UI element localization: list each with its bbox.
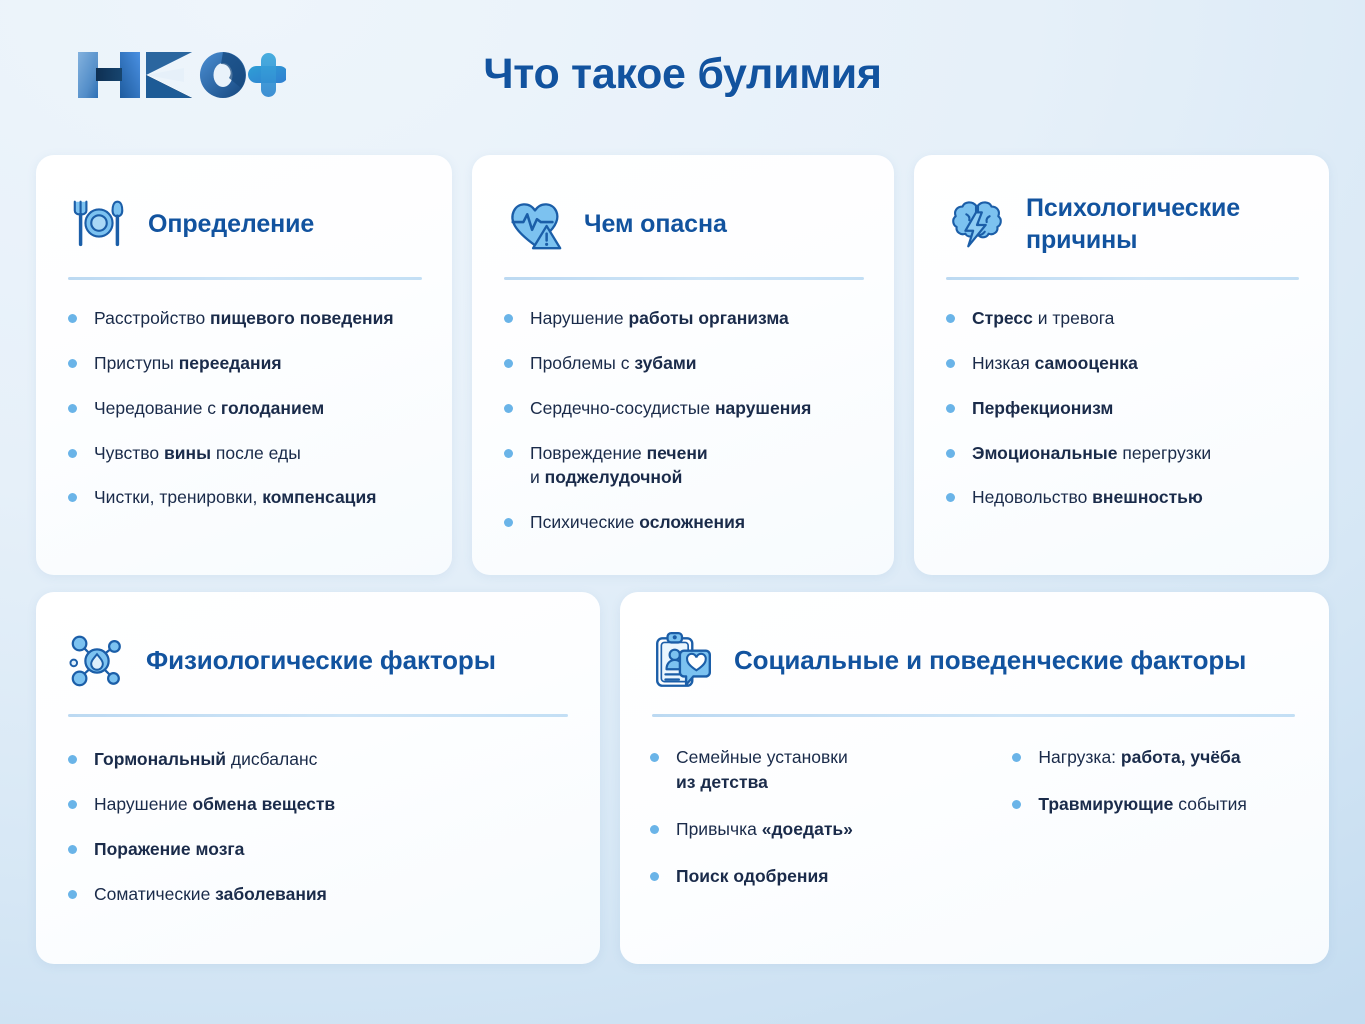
- list-item: Чередование с голоданием: [68, 396, 426, 421]
- list-item: Низкая самооценка: [946, 351, 1303, 376]
- list-item: Чувство вины после еды: [68, 441, 426, 466]
- card-definition: Определение Расстройство пищевого поведе…: [36, 155, 452, 575]
- list-item: Нагрузка: работа, учёба: [1012, 745, 1303, 770]
- page-header: Что такое булимия: [0, 0, 1365, 146]
- card-title: Определение: [148, 208, 314, 240]
- list-item: Привычка «доедать»: [650, 817, 1012, 842]
- list-item: Травмирующие события: [1012, 792, 1303, 817]
- card-title: Психологические причины: [1026, 192, 1299, 256]
- brain-lightning-icon: [946, 193, 1008, 255]
- bullet-columns: Семейные установкииз детстваПривычка «до…: [620, 717, 1329, 910]
- heart-pulse-warning-icon: [504, 193, 566, 255]
- list-item: Проблемы с зубами: [504, 351, 868, 376]
- cutlery-plate-icon: [68, 193, 130, 255]
- list-item: Чистки, тренировки, компенсация: [68, 485, 426, 510]
- page-title: Что такое булимия: [0, 50, 1365, 99]
- list-item: Повреждение печении поджелудочной: [504, 441, 868, 491]
- card-psychological-causes: Психологические причины Стресс и тревога…: [914, 155, 1329, 575]
- list-item: Перфекционизм: [946, 396, 1303, 421]
- list-item: Нарушение обмена веществ: [68, 792, 574, 817]
- card-header: Психологические причины: [914, 155, 1329, 259]
- list-item: Приступы переедания: [68, 351, 426, 376]
- card-social-behavioral-factors: Социальные и поведенческие факторы Семей…: [620, 592, 1329, 964]
- clipboard-person-heart-icon: [650, 628, 716, 694]
- bullet-list: Расстройство пищевого поведенияПриступы …: [36, 280, 452, 510]
- list-item: Поражение мозга: [68, 837, 574, 862]
- list-item: Сердечно-сосудистые нарушения: [504, 396, 868, 421]
- bullet-list: Гормональный дисбалансНарушение обмена в…: [36, 717, 600, 906]
- card-header: Чем опасна: [472, 155, 894, 259]
- bullet-list: Нарушение работы организмаПроблемы с зуб…: [472, 280, 894, 535]
- list-item: Эмоциональные перегрузки: [946, 441, 1303, 466]
- list-item: Стресс и тревога: [946, 306, 1303, 331]
- list-item: Нарушение работы организма: [504, 306, 868, 331]
- card-header: Определение: [36, 155, 452, 259]
- card-physiological-factors: Физиологические факторы Гормональный дис…: [36, 592, 600, 964]
- list-item: Психические осложнения: [504, 510, 868, 535]
- card-title: Чем опасна: [584, 208, 727, 240]
- card-title: Физиологические факторы: [146, 644, 496, 677]
- card-danger: Чем опасна Нарушение работы организмаПро…: [472, 155, 894, 575]
- bullet-list-left: Семейные установкииз детстваПривычка «до…: [650, 745, 1012, 910]
- molecule-hormone-icon: [66, 630, 128, 692]
- bullet-list-right: Нагрузка: работа, учёбаТравмирующие собы…: [1012, 745, 1303, 910]
- bullet-list: Стресс и тревогаНизкая самооценкаПерфекц…: [914, 280, 1329, 510]
- list-item: Соматические заболевания: [68, 882, 574, 907]
- list-item: Гормональный дисбаланс: [68, 747, 574, 772]
- card-header: Физиологические факторы: [36, 592, 600, 696]
- card-title: Социальные и поведенческие факторы: [734, 644, 1246, 677]
- list-item: Поиск одобрения: [650, 864, 1012, 889]
- list-item: Недовольство внешностью: [946, 485, 1303, 510]
- list-item: Расстройство пищевого поведения: [68, 306, 426, 331]
- card-header: Социальные и поведенческие факторы: [620, 592, 1329, 696]
- list-item: Семейные установкииз детства: [650, 745, 1012, 795]
